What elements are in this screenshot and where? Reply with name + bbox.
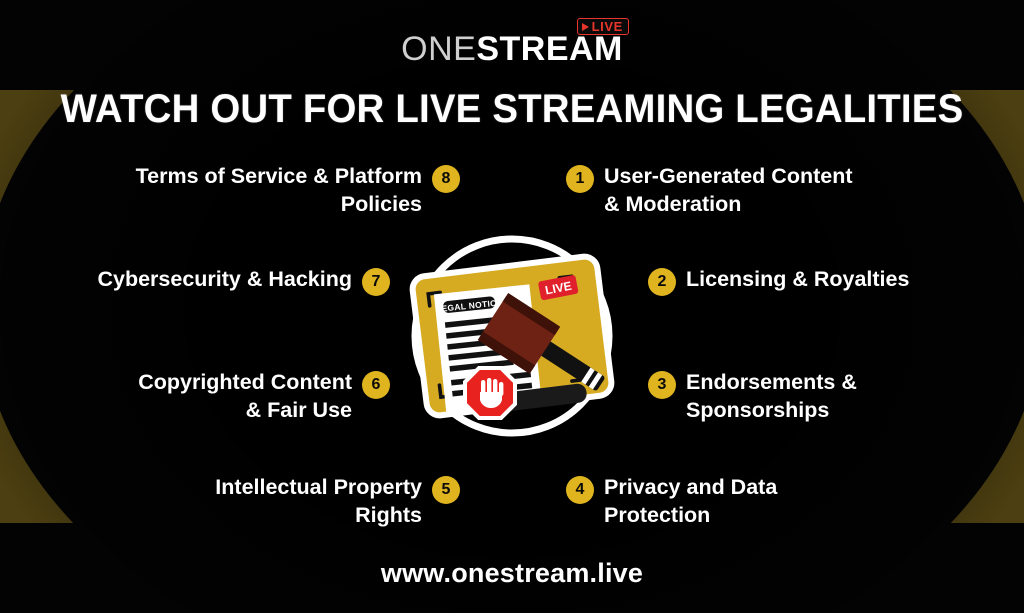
list-item-6: Copyrighted Content & Fair Use 6 <box>138 369 390 424</box>
list-item-7-number: 7 <box>362 268 390 296</box>
list-item-8-label: Terms of Service & Platform Policies <box>136 163 422 218</box>
list-item-5-label: Intellectual Property Rights <box>215 474 422 529</box>
list-item-7-label: Cybersecurity & Hacking <box>97 266 352 294</box>
list-item-3-label: Endorsements & Sponsorships <box>686 369 857 424</box>
list-item-6-label: Copyrighted Content & Fair Use <box>138 369 352 424</box>
list-item-7: Cybersecurity & Hacking 7 <box>97 266 390 296</box>
list-item-3-number: 3 <box>648 371 676 399</box>
list-item-3: 3 Endorsements & Sponsorships <box>648 369 857 424</box>
footer-url[interactable]: www.onestream.live <box>0 558 1024 589</box>
list-item-2-label: Licensing & Royalties <box>686 266 909 294</box>
page-title: WATCH OUT FOR LIVE STREAMING LEGALITIES <box>20 88 1003 130</box>
list-item-5: Intellectual Property Rights 5 <box>215 474 460 529</box>
list-item-8: Terms of Service & Platform Policies 8 <box>136 163 460 218</box>
list-item-8-number: 8 <box>432 165 460 193</box>
logo-wordmark: ONESTREAM <box>401 32 623 66</box>
logo-one-text: ONE <box>401 30 476 68</box>
list-item-1: 1 User-Generated Content & Moderation <box>566 163 853 218</box>
logo-live-badge: LIVE <box>577 18 629 35</box>
list-item-4-label: Privacy and Data Protection <box>604 474 777 529</box>
legal-notice-gavel-illustration: LIVE LEGAL NOTICE <box>387 230 637 442</box>
list-item-2-number: 2 <box>648 268 676 296</box>
poster-canvas: LIVE ONESTREAM WATCH OUT FOR LIVE STREAM… <box>0 0 1024 613</box>
logo-live-label: LIVE <box>592 20 623 33</box>
list-item-4: 4 Privacy and Data Protection <box>566 474 777 529</box>
list-item-1-number: 1 <box>566 165 594 193</box>
list-item-2: 2 Licensing & Royalties <box>648 266 909 296</box>
list-item-6-number: 6 <box>362 371 390 399</box>
play-triangle-icon <box>582 23 589 31</box>
list-item-5-number: 5 <box>432 476 460 504</box>
list-item-1-label: User-Generated Content & Moderation <box>604 163 853 218</box>
logo-stream-text: STREAM <box>476 30 623 68</box>
list-item-4-number: 4 <box>566 476 594 504</box>
stop-sign-hand <box>465 368 515 418</box>
brand-logo: LIVE ONESTREAM <box>0 22 1024 66</box>
